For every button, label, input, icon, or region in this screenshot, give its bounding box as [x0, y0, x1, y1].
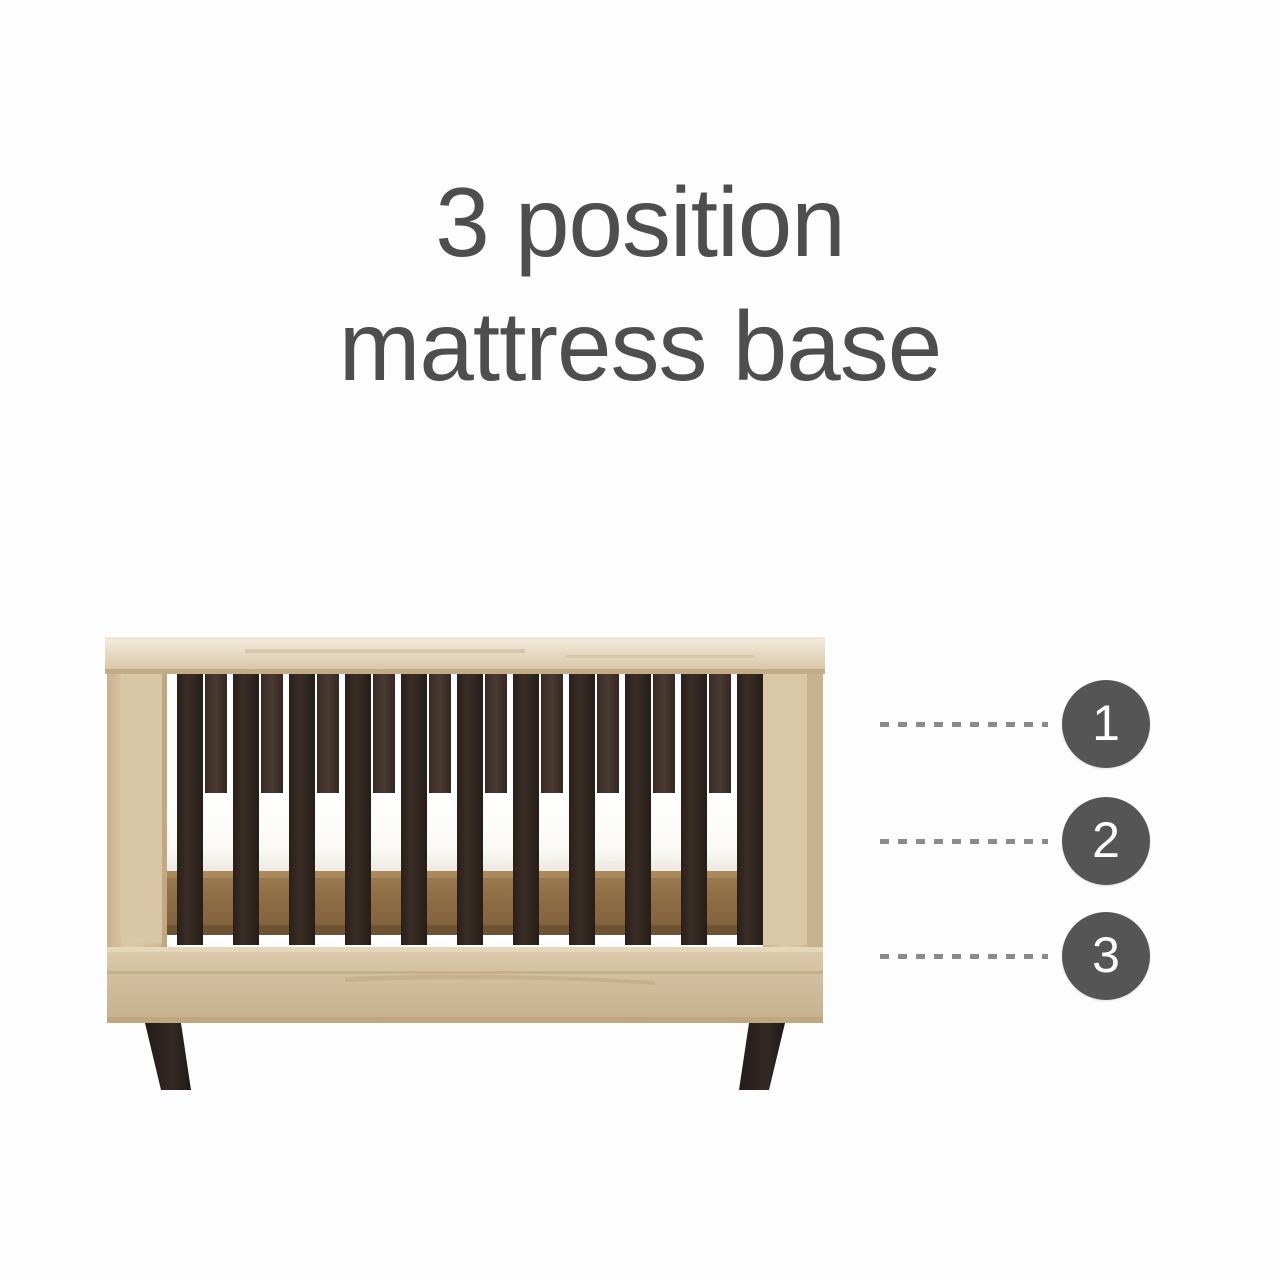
page-title-line-1: 3 position: [0, 160, 1280, 284]
crib-graphic: [95, 625, 835, 1100]
dashed-leader-line-1: [880, 722, 1048, 727]
callout-position-2[interactable]: 2: [880, 796, 1190, 886]
dashed-leader-line-3: [880, 954, 1048, 959]
mattress-position-callouts: 1 2 3: [880, 660, 1190, 1020]
crib-left-post: [107, 647, 167, 947]
callout-position-1[interactable]: 1: [880, 679, 1190, 769]
callout-position-3[interactable]: 3: [880, 911, 1190, 1001]
crib-illustration: [95, 625, 835, 1100]
dashed-leader-line-2: [880, 839, 1048, 844]
crib-right-post: [763, 647, 823, 947]
crib-leg-right: [739, 1023, 785, 1090]
crib-bottom-panel: [107, 947, 823, 1023]
position-badge-2[interactable]: 2: [1062, 797, 1150, 885]
page-title: 3 position mattress base: [0, 160, 1280, 408]
crib-leg-left: [145, 1023, 191, 1090]
position-badge-3[interactable]: 3: [1062, 912, 1150, 1000]
page-title-line-2: mattress base: [0, 284, 1280, 408]
position-badge-1[interactable]: 1: [1062, 680, 1150, 768]
crib-top-rail: [105, 637, 825, 674]
product-infographic: 3 position mattress base: [0, 0, 1280, 1280]
